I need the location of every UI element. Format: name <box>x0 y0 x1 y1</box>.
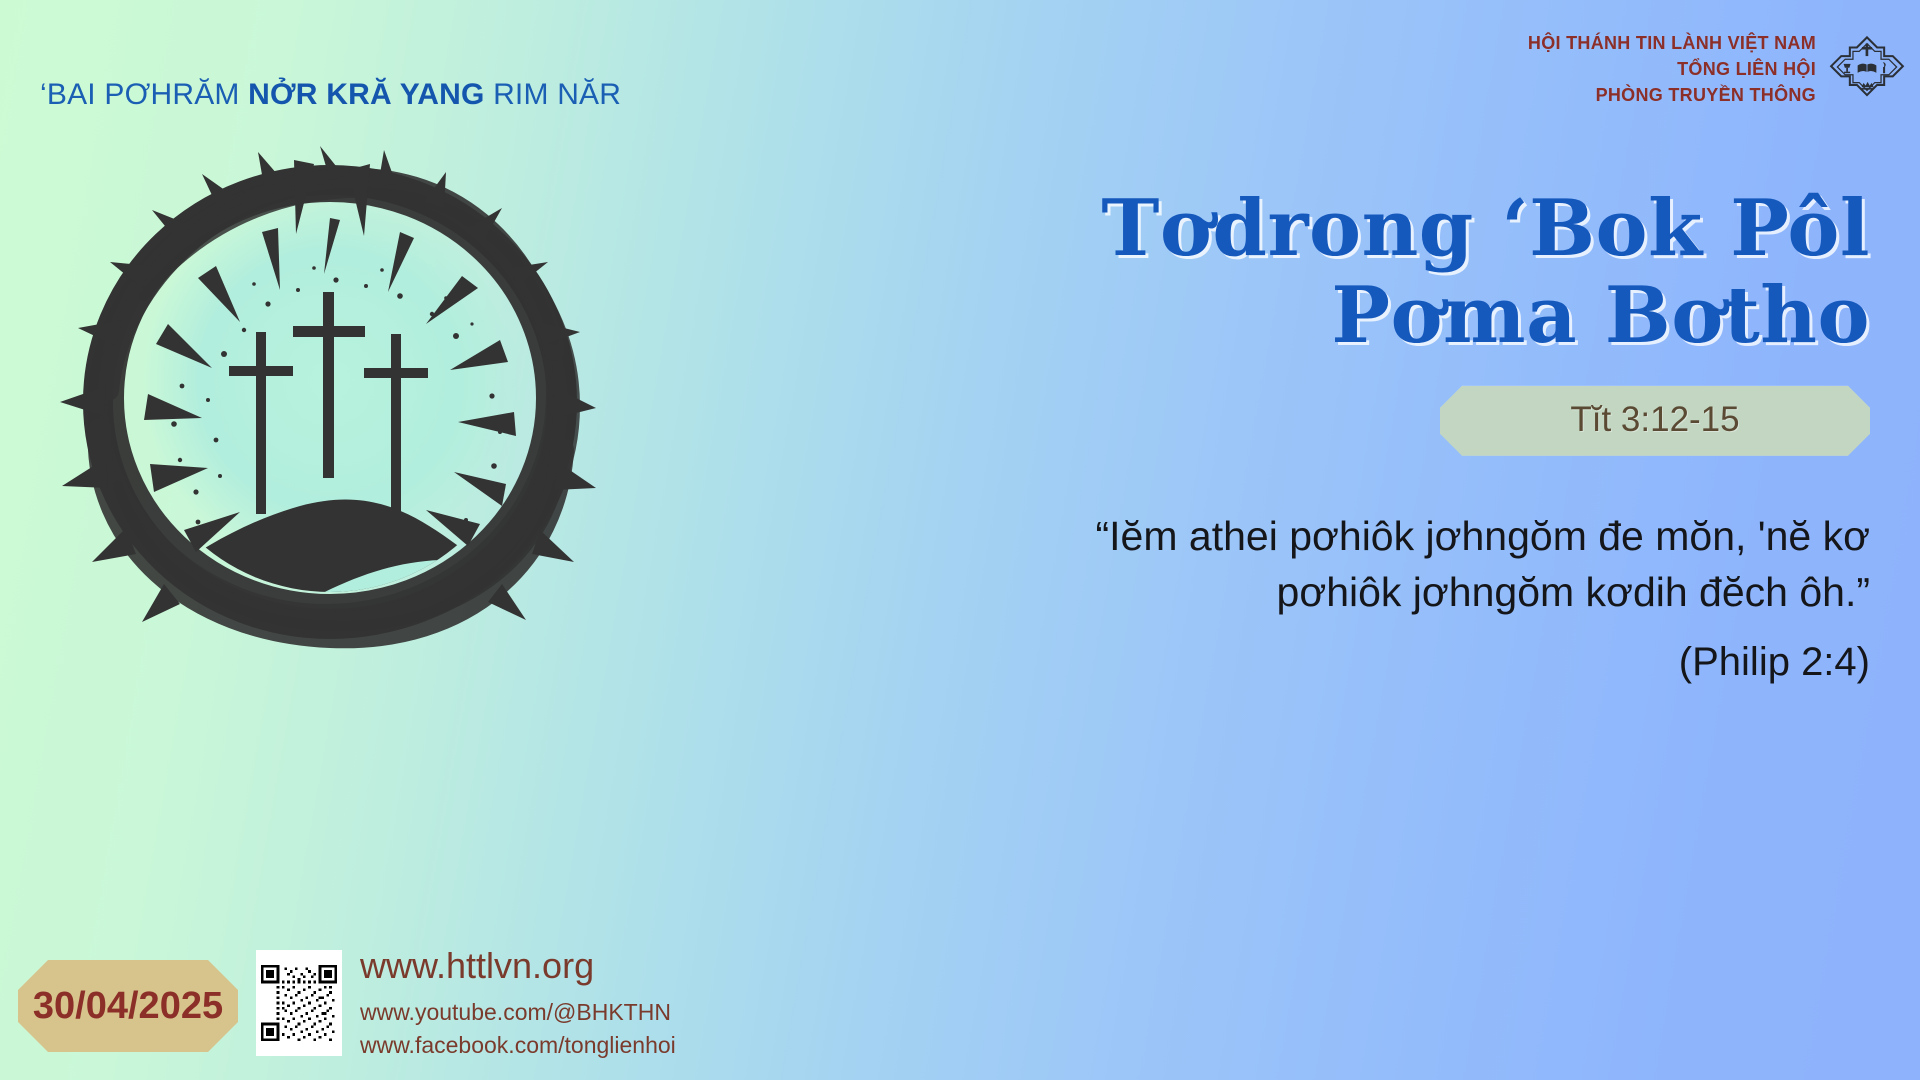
scripture-reference-badge: Tĭt 3:12-15 <box>1440 386 1870 456</box>
verse-quote: “Iĕm athei pơhiôk jơhngŏm đe mŏn, 'nĕ kơ… <box>950 508 1870 690</box>
organization-name-block: HỘI THÁNH TIN LÀNH VIỆT NAM TỔNG LIÊN HỘ… <box>1528 30 1816 108</box>
verse-line-2: pơhiôk jơhngŏm kơdih đĕch ôh.” <box>950 564 1870 621</box>
org-line-3: PHÒNG TRUYỀN THÔNG <box>1528 82 1816 108</box>
banner-highlight: NỞR KRĂ YANG <box>248 78 484 111</box>
series-banner-text: ‘BAI PƠHRĂM NỞR KRĂ YANG RIM NĂR <box>40 78 621 112</box>
org-line-2: TỔNG LIÊN HỘI <box>1528 56 1816 82</box>
title-line-2: Pơma Bơtho <box>950 272 1870 359</box>
sermon-content-column: Tơdrong ‘Bok Pôl Pơma Bơtho Tĭt 3:12-15 … <box>950 185 1870 690</box>
banner-prefix: ‘BAI PƠHRĂM <box>40 78 248 111</box>
banner-suffix: RIM NĂR <box>485 78 622 111</box>
date-badge: 30/04/2025 <box>18 960 238 1052</box>
facebook-link[interactable]: www.facebook.com/tonglienhoi <box>360 1029 676 1062</box>
website-link[interactable]: www.httlvn.org <box>360 948 676 984</box>
title-line-1: Tơdrong ‘Bok Pôl <box>950 185 1870 272</box>
page-title: Tơdrong ‘Bok Pôl Pơma Bơtho <box>950 185 1870 360</box>
youtube-link[interactable]: www.youtube.com/@BHKTHN <box>360 996 676 1029</box>
verse-citation: (Philip 2:4) <box>950 635 1870 690</box>
org-line-1: HỘI THÁNH TIN LÀNH VIỆT NAM <box>1528 30 1816 56</box>
verse-line-1: “Iĕm athei pơhiôk jơhngŏm đe mŏn, 'nĕ kơ <box>950 508 1870 565</box>
footer-links: www.httlvn.org www.youtube.com/@BHKTHN w… <box>360 948 676 1061</box>
qr-code-icon[interactable] <box>256 950 342 1056</box>
maltese-cross-emblem-icon <box>1828 28 1906 106</box>
crown-of-thorns-artwork <box>48 140 608 680</box>
